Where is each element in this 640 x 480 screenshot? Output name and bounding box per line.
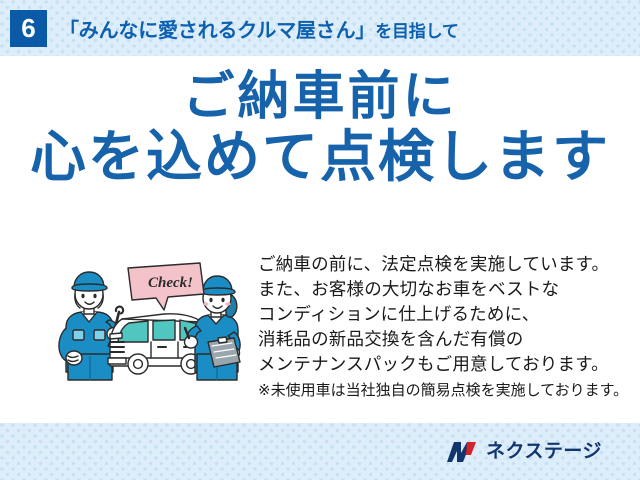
header-title-quoted: 「みんなに愛されるクルマ屋さん」 xyxy=(59,14,375,43)
header-title: 「みんなに愛されるクルマ屋さん」 を目指して xyxy=(59,14,459,43)
mechanics-van-illustration: Check! xyxy=(52,254,252,389)
footer-band: ネクステージ xyxy=(0,423,640,480)
headline: ご納車前に 心を込めて点検します xyxy=(0,70,640,186)
body-line: ご納車の前に、法定点検を実施しています。 xyxy=(258,252,618,277)
body-text-block: ご納車の前に、法定点検を実施しています。 また、お客様の大切なお車をベストな コ… xyxy=(258,252,618,403)
headline-line-1: ご納車前に xyxy=(0,70,640,124)
body-line: メンテナンスパックもご用意しております。 xyxy=(258,352,618,377)
check-bubble-text: Check! xyxy=(148,275,193,291)
main-content: ご納車前に 心を込めて点検します xyxy=(0,56,640,423)
section-number-badge: 6 xyxy=(10,10,47,47)
body-line: コンディションに仕上げるために、 xyxy=(258,302,618,327)
body-line: また、お客様の大切なお車をベストな xyxy=(258,277,618,302)
promo-page: 6 「みんなに愛されるクルマ屋さん」 を目指して ご納車前に 心を込めて点検しま… xyxy=(0,0,640,480)
nextage-n-mark-icon xyxy=(445,440,479,464)
body-note: ※未使用車は当社独自の簡易点検を実施しております。 xyxy=(258,379,618,403)
section-number-label: 6 xyxy=(21,15,35,41)
brand-name-label: ネクステージ xyxy=(486,442,602,461)
body-line: 消耗品の新品交換を含んだ有償の xyxy=(258,327,618,352)
headline-line-2: 心を込めて点検します xyxy=(0,128,640,186)
header-band: 6 「みんなに愛されるクルマ屋さん」 を目指して xyxy=(0,0,640,56)
header-title-suffix: を目指して xyxy=(375,17,459,42)
brand-logo: ネクステージ xyxy=(445,440,602,464)
